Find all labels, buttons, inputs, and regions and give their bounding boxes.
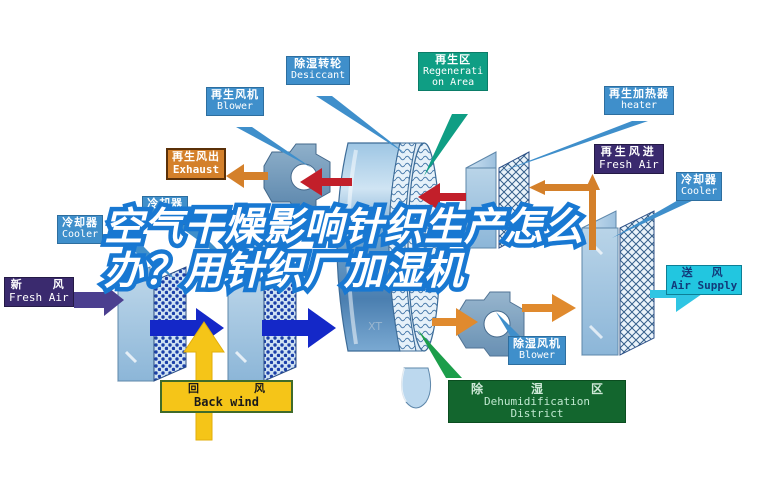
svg-text:XT: XT	[368, 320, 382, 333]
label-back-wind-en: Back wind	[166, 396, 287, 409]
label-cooler-right: 冷却器 Cooler	[676, 172, 722, 201]
label-regeneration-blower-en: Blower	[211, 102, 259, 113]
headline-line2: 办？用针织厂加湿机	[104, 250, 704, 294]
label-fresh-air-en: Fresh Air	[9, 292, 69, 304]
arrow-exhaust-out	[226, 164, 268, 188]
label-back-wind: 回 风 Back wind	[160, 380, 293, 413]
label-regeneration-area: 再生区 Regenerati on Area	[418, 52, 488, 91]
label-desiccant: 除湿转轮 Desiccant	[286, 56, 350, 85]
label-regeneration-fresh-air: 再生风进 Fresh Air	[594, 144, 664, 174]
label-dehumidification-district-cn: 除 湿 区	[453, 383, 621, 396]
label-desiccant-en: Desiccant	[291, 71, 345, 82]
label-dehumidification-blower-en: Blower	[513, 351, 561, 362]
label-regeneration-fresh-air-en: Fresh Air	[599, 159, 659, 171]
label-regeneration-area-en2: on Area	[423, 78, 483, 89]
label-cooler-top-left-en: Cooler	[62, 230, 98, 241]
arrow-regen-intake	[529, 180, 595, 195]
label-regeneration-blower: 再生风机 Blower	[206, 87, 264, 116]
label-regeneration-exhaust-en: Exhaust	[172, 164, 220, 176]
wheel-drain-scoop	[401, 368, 430, 408]
arrow-process-2	[522, 294, 576, 322]
headline-overlay: 空气干燥影响针织生产怎么 办？用针织厂加湿机	[104, 206, 704, 294]
label-cooler-top-left: 冷却器 Cooler	[57, 215, 103, 244]
label-regeneration-heater: 再生加热器 heater	[604, 86, 674, 115]
label-fresh-air: 新 风 Fresh Air	[4, 277, 74, 307]
label-dehumidification-district-en2: District	[453, 408, 621, 420]
label-dehumidification-district: 除 湿 区 Dehumidification District	[448, 380, 626, 423]
label-regeneration-heater-en: heater	[609, 101, 669, 112]
label-dehumidification-blower: 除湿风机 Blower	[508, 336, 566, 365]
label-regeneration-exhaust: 再生风出 Exhaust	[166, 148, 226, 180]
headline-line1: 空气干燥影响针织生产怎么	[104, 206, 704, 250]
label-cooler-right-en: Cooler	[681, 187, 717, 198]
dehumidifier-diagram: XT	[0, 0, 757, 488]
